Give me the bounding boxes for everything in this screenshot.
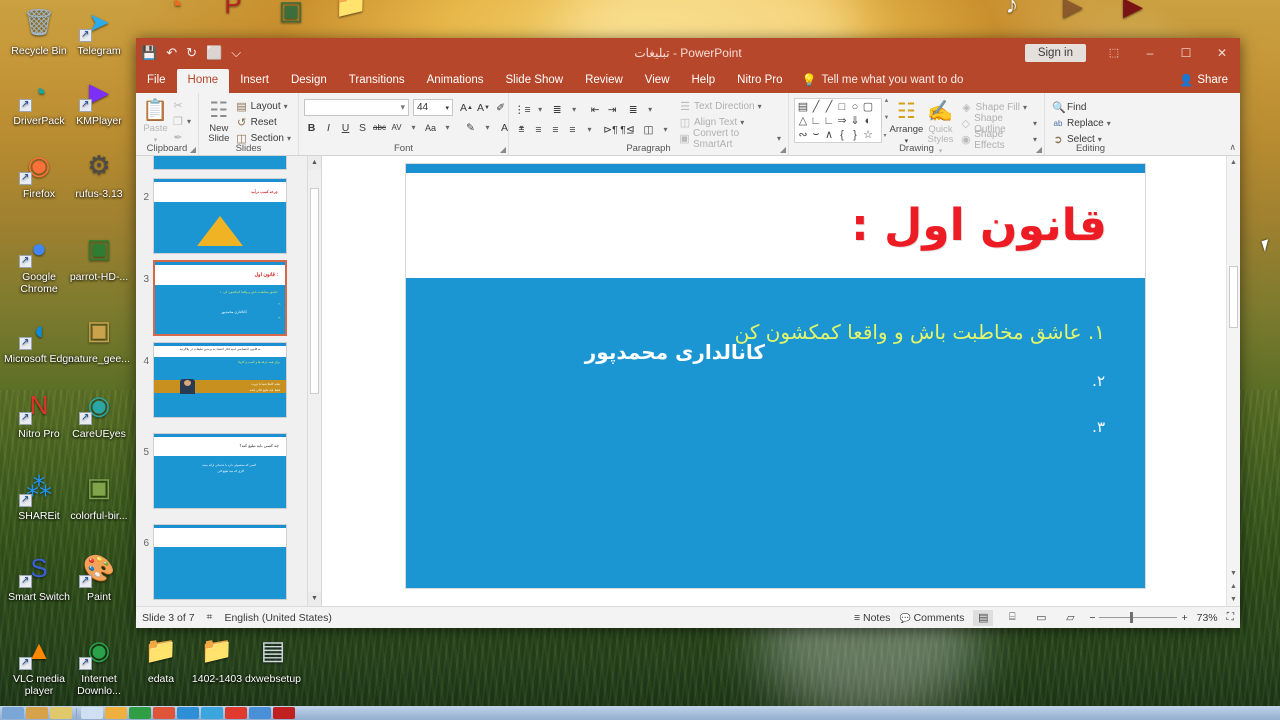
desktop-icon-video-thumbnail[interactable]: ▶ [1096, 0, 1170, 30]
text-direction-button[interactable]: ☰Text Direction▾ [679, 99, 781, 114]
rect-shape-icon: □ [836, 101, 848, 113]
shape-outline-icon: ◇ [960, 117, 971, 130]
language-indicator[interactable]: English (United States) [224, 612, 331, 624]
shortcut-overlay-icon [79, 412, 92, 425]
share-button[interactable]: 👤Share [1167, 69, 1240, 93]
line-spacing-dropdown-icon[interactable]: ▾ [643, 102, 658, 117]
cut-icon: ✂ [172, 99, 184, 112]
video-thumbnail-icon: ▶ [1113, 0, 1153, 26]
increase-indent-button[interactable]: ⇥ [605, 102, 620, 117]
thumb-title: به قانون اختصاصی امید فکر اعتماد به برند… [158, 347, 282, 351]
brace-left-shape-icon: { [836, 129, 848, 141]
scroll-up-arrow-icon[interactable]: ▲ [1227, 156, 1240, 169]
slide-title-text: قانون اول : [851, 200, 1107, 251]
text-highlight-dropdown-icon[interactable]: ▾ [480, 120, 495, 135]
paint-icon: 🎨 [79, 548, 119, 588]
find-icon: 🔍 [1052, 101, 1064, 114]
taskbar-item-6[interactable] [129, 707, 151, 719]
list-item[interactable]: 6 [136, 524, 287, 600]
taskbar-separator [76, 708, 77, 719]
shortcut-overlay-icon [79, 29, 92, 42]
fit-slide-to-window-button[interactable]: ⛶ [1227, 611, 1234, 624]
kmplayer-icon: ▶ [79, 72, 119, 112]
zoom-out-button[interactable]: − [1089, 612, 1095, 624]
arrow-shape-icon: ╱ [823, 100, 835, 113]
shortcut-overlay-icon [19, 412, 32, 425]
bold-button[interactable]: B [304, 120, 319, 135]
tab-design[interactable]: Design [280, 69, 338, 93]
potplayer-icon: P [213, 0, 253, 24]
current-slide[interactable]: قانون اول : ۱. عاشق مخاطبت باش و واقعا ک… [406, 164, 1145, 588]
right-arrow-shape-icon: ⇒ [836, 114, 848, 127]
align-left-button[interactable]: ≡ [514, 122, 529, 137]
shortcut-overlay-icon [79, 575, 92, 588]
sign-in-button[interactable]: Sign in [1025, 44, 1086, 62]
text-highlight-button[interactable]: ✎ [463, 120, 478, 135]
layout-button[interactable]: ▤Layout▾ [236, 99, 291, 114]
slide-indicator[interactable]: Slide 3 of 7 [142, 612, 195, 624]
slide-scrollbar[interactable]: ▲ ▼ ▲ ▼ [1226, 156, 1240, 606]
zoom-knob[interactable] [1130, 612, 1133, 623]
align-center-button[interactable]: ≡ [531, 122, 546, 137]
scroll-up-arrow-icon[interactable]: ▲ [308, 156, 321, 170]
scrollbar-thumb[interactable] [1229, 266, 1238, 328]
thumbnail-scrollbar[interactable]: ▲ ▼ [307, 156, 321, 606]
edge-icon: ◖ [19, 310, 59, 350]
desktop-icon-label: parrot-HD-... [62, 272, 136, 284]
tab-nitro-pro[interactable]: Nitro Pro [726, 69, 793, 93]
mouse-cursor [1261, 239, 1271, 252]
numbering-button[interactable]: ≣ [550, 102, 565, 117]
taskbar-item-1[interactable] [2, 707, 24, 719]
tab-view[interactable]: View [634, 69, 681, 93]
slide-editing-pane[interactable]: قانون اول : ۱. عاشق مخاطبت باش و واقعا ک… [322, 156, 1240, 606]
view-slideshow-button[interactable]: ▱ [1060, 610, 1080, 626]
shortcut-overlay-icon [19, 575, 32, 588]
notes-icon: ≡ [854, 612, 860, 624]
list-item[interactable]: 4 به قانون اختصاصی امید فکر اعتماد به بر… [136, 342, 287, 418]
taskbar-item-3[interactable] [50, 707, 72, 719]
text-shadow-button[interactable]: S [355, 120, 370, 135]
zoom-in-button[interactable]: + [1181, 612, 1187, 624]
redo-icon[interactable]: ↻ [186, 45, 197, 61]
tab-insert[interactable]: Insert [229, 69, 280, 93]
shortcut-overlay-icon [19, 99, 32, 112]
maximize-button[interactable]: ☐ [1168, 38, 1204, 68]
group-label-clipboard: Clipboard [136, 143, 198, 154]
reset-icon: ↺ [236, 116, 248, 129]
font-name-input[interactable]: ▾ [304, 99, 409, 116]
shortcut-overlay-icon [79, 99, 92, 112]
undo-icon[interactable]: ↶ [166, 45, 177, 61]
desktop-icon-label: Telegram [62, 46, 136, 58]
share-label: Share [1197, 74, 1228, 86]
line-spacing-button[interactable]: ≣ [626, 102, 641, 117]
font-name-dropdown-icon[interactable]: ▾ [400, 102, 405, 113]
elbow-shape-icon: ∟ [810, 115, 822, 127]
font-dialog-launcher[interactable]: ◢ [500, 145, 506, 154]
idm-icon: ◉ [79, 630, 119, 670]
character-spacing-dropdown-icon[interactable]: ▾ [406, 120, 421, 135]
vlc-icon: ▲ [19, 630, 59, 670]
taskbar-item-7[interactable] [153, 707, 175, 719]
zoom-track[interactable] [1099, 617, 1177, 618]
customize-qat-icon[interactable]: ⌵ [231, 45, 241, 61]
freeform-shape-icon: ∾ [797, 128, 809, 141]
slide-number: 3 [136, 260, 153, 285]
slide-number: 2 [136, 178, 153, 203]
slide-thumbnail[interactable]: چه کسی باید تبلیغ کنه؟ کسی که محصولی دار… [153, 433, 287, 509]
slide-number: 6 [136, 524, 153, 549]
title-bar: 💾↶↻⬜⌵ تبلیغات - PowerPoint Sign in ⬚ – ☐… [136, 38, 1240, 68]
strikethrough-button[interactable]: abc [372, 120, 387, 135]
desktop-icon-label: CareUEyes [62, 429, 136, 441]
telegram-icon: ➤ [79, 2, 119, 42]
slide-title-placeholder[interactable]: قانون اول : [406, 173, 1145, 278]
tab-home[interactable]: Home [177, 69, 230, 93]
desktop-icon-rufus[interactable]: ⚙rufus-3.13 [62, 145, 136, 201]
list-item[interactable]: 3 قانون اول : ۱. عاشق مخاطبت باش و واقعا… [136, 260, 287, 336]
new-slide-icon: ☷ [209, 100, 228, 122]
view-slide-sorter-button[interactable]: ⌸ [1002, 610, 1022, 626]
collapse-ribbon-button[interactable]: ∧ [1229, 142, 1236, 153]
colorful-bird-image-icon: ▣ [79, 467, 119, 507]
font-size-dropdown-icon[interactable]: ▾ [445, 104, 449, 112]
slide-bullet-1: ۱. عاشق مخاطبت باش و واقعا کمکشون کن [446, 320, 1105, 344]
taskbar-item-12[interactable] [273, 707, 295, 719]
desktop-icon-label: Paint [62, 592, 136, 604]
clear-formatting-button[interactable]: ✐ [493, 100, 508, 115]
desktop-icon-label: colorful-bir... [62, 511, 136, 523]
replace-icon: ab [1052, 119, 1064, 128]
desktop-icon-dxwebsetup[interactable]: ▤dxwebsetup [236, 630, 310, 686]
tab-animations[interactable]: Animations [416, 69, 495, 93]
desktop-icon-label: dxwebsetup [236, 674, 310, 686]
scrollbar-thumb[interactable] [310, 188, 319, 394]
text-direction-icon: ☰ [679, 100, 691, 113]
tab-transitions[interactable]: Transitions [338, 69, 416, 93]
share-person-icon: 👤 [1179, 73, 1193, 87]
desktop-icon-colorful-bird-image[interactable]: ▣colorful-bir... [62, 467, 136, 523]
find-button[interactable]: 🔍Find [1052, 100, 1111, 115]
slide-body-placeholder[interactable]: ۱. عاشق مخاطبت باش و واقعا کمکشون کن ۲. … [406, 278, 1145, 588]
decrease-indent-button[interactable]: ⇤ [588, 102, 603, 117]
textbox-shape-icon: ▤ [797, 100, 809, 113]
mp3-file-icon: ♪ [992, 0, 1032, 24]
arrange-button[interactable]: ☷ Arrange ▾ [889, 98, 923, 147]
columns-button[interactable]: ◫ [641, 122, 656, 137]
slide-bullet-3: ۳. [446, 418, 1105, 436]
shareit-icon: ⁂ [19, 467, 59, 507]
pie-shape-icon: ◐ [862, 115, 874, 127]
folder-icon: 📁 [197, 630, 237, 670]
numbering-dropdown-icon[interactable]: ▾ [567, 102, 582, 117]
paragraph-dialog-launcher[interactable]: ◢ [780, 145, 786, 154]
slide-number: 4 [136, 342, 153, 367]
arrange-icon: ☷ [897, 101, 916, 123]
start-slideshow-icon[interactable]: ⬜ [206, 45, 222, 61]
list-item[interactable]: 5 چه کسی باید تبلیغ کنه؟ کسی که محصولی د… [136, 433, 287, 509]
thumb-title: چرخه کسب درآمد [251, 190, 278, 194]
brace-right-shape-icon: } [849, 129, 861, 141]
thumb-line-1: ۱. عاشق مخاطبت باش و واقعا کمکشون کن [220, 290, 278, 294]
bullets-dropdown-icon[interactable]: ▾ [533, 102, 548, 117]
ribbon-group-clipboard: 📋 Paste ▾ ✂ ❐▾ ✒ Clipboard ◢ [136, 93, 198, 155]
powerpoint-window: 💾↶↻⬜⌵ تبلیغات - PowerPoint Sign in ⬚ – ☐… [136, 38, 1240, 628]
dxwebsetup-icon: ▤ [253, 630, 293, 670]
justify-dropdown-icon[interactable]: ▾ [582, 122, 597, 137]
desktop-icon-telegram[interactable]: ➤Telegram [62, 2, 136, 58]
desktop-icon-folder[interactable]: 📁 [314, 0, 388, 28]
shapes-gallery-scroll[interactable]: ▲▼▾ [882, 98, 889, 139]
parrot-image-icon: ▣ [79, 228, 119, 268]
copy-dropdown-icon[interactable]: ▾ [187, 117, 191, 126]
clipboard-dialog-launcher[interactable]: ◢ [190, 145, 196, 154]
ltr-text-direction-button[interactable]: ⊳¶ [603, 122, 618, 137]
oval-shape-icon: ○ [849, 101, 861, 113]
status-bar: Slide 3 of 7 ⌗ English (United States) ≡… [136, 606, 1240, 628]
ribbon-group-font: ▾ 44▾ A▲ A▼ ✐ B I U S abc AV ▾ Aa ▾ ✎ [298, 93, 508, 155]
slide-watermark-text: کانالداری محمدپور [585, 340, 765, 364]
careueyes-icon: ◉ [79, 385, 119, 425]
bullets-button[interactable]: ⋮≡ [514, 102, 531, 117]
folder-icon: 📁 [141, 630, 181, 670]
scroll-down-arrow-icon[interactable]: ▼ [308, 592, 321, 606]
desktop-icon-nature-image[interactable]: ▣nature_gee... [62, 310, 136, 366]
opera-icon: ◔ [155, 0, 195, 24]
desktop-icon-paint[interactable]: 🎨Paint [62, 548, 136, 604]
taskbar-item-5[interactable] [105, 707, 127, 719]
tab-slide-show[interactable]: Slide Show [495, 69, 575, 93]
folder-icon: 📁 [331, 0, 371, 24]
firefox-icon: ◉ [19, 145, 59, 185]
desktop-icon-careueyes[interactable]: ◉CareUEyes [62, 385, 136, 441]
paste-icon: 📋 [142, 100, 168, 122]
quick-styles-icon: ✍ [927, 101, 953, 123]
driverpack-icon: ◔ [19, 72, 59, 112]
down-arrow-shape-icon: ⇓ [849, 114, 861, 127]
drawing-dialog-launcher[interactable]: ◢ [1036, 145, 1042, 154]
view-reading-button[interactable]: ▭ [1031, 610, 1051, 626]
taskbar-item-9[interactable] [201, 707, 223, 719]
group-label-editing: Editing [1045, 143, 1136, 154]
triangle-diagram-icon [197, 216, 243, 246]
shortcut-overlay-icon [19, 337, 32, 350]
screenshot-image-icon: ▣ [271, 0, 311, 30]
align-text-icon: ◫ [679, 116, 691, 129]
desktop-icon-label: nature_gee... [62, 354, 136, 366]
grow-font-button[interactable]: A▲ [459, 100, 474, 115]
ribbon-group-paragraph: ⋮≡ ▾ ≣ ▾ ⇤ ⇥ ≣ ▾ ≡ ≡ ≡ ≡ ▾ [508, 93, 788, 155]
justify-button[interactable]: ≡ [565, 122, 580, 137]
next-slide-button[interactable]: ▼ [1227, 593, 1240, 606]
previous-slide-button[interactable]: ▲ [1227, 580, 1240, 593]
nitro-pro-icon: N [19, 385, 59, 425]
comments-button[interactable]: 💬 Comments [899, 612, 964, 624]
taskbar-item-4[interactable] [81, 707, 103, 719]
rtl-text-direction-button[interactable]: ¶⊴ [620, 122, 635, 137]
slide-thumbnail[interactable]: چرخه کسب درآمد [153, 178, 287, 254]
desktop-icon-label: rufus-3.13 [62, 189, 136, 201]
taskbar-item-11[interactable] [249, 707, 271, 719]
chrome-icon: ● [19, 228, 59, 268]
recycle-bin-icon: 🗑 [19, 2, 59, 42]
copy-button[interactable]: ❐▾ [172, 114, 191, 129]
tell-me-label: Tell me what you want to do [821, 74, 963, 86]
rufus-icon: ⚙ [79, 145, 119, 185]
smart-switch-icon: S [19, 548, 59, 588]
slide-thumbnail-pane[interactable]: 2 چرخه کسب درآمد 3 قانون اول : ۱. عاشق م… [136, 156, 322, 606]
editor-work-area: 2 چرخه کسب درآمد 3 قانون اول : ۱. عاشق م… [136, 156, 1240, 606]
zoom-slider[interactable]: − + [1089, 612, 1187, 624]
ribbon-display-options-icon[interactable]: ⬚ [1096, 38, 1132, 68]
desktop-icon-label: KMPlayer [62, 116, 136, 128]
desktop-icon-parrot-image[interactable]: ▣parrot-HD-... [62, 228, 136, 284]
accessibility-icon[interactable]: ⌗ [207, 611, 213, 624]
shortcut-overlay-icon [19, 172, 32, 185]
tab-help[interactable]: Help [681, 69, 727, 93]
triangle-shape-icon: △ [797, 114, 809, 127]
change-case-dropdown-icon[interactable]: ▾ [440, 120, 455, 135]
line-shape-icon: ╱ [810, 100, 822, 113]
ribbon-group-slides: ☷ New Slide ▤Layout▾ ↺Reset ◫Section▾ Sl… [198, 93, 298, 155]
tab-review[interactable]: Review [574, 69, 634, 93]
copy-icon: ❐ [172, 115, 184, 128]
slide-bullet-2: ۲. [446, 372, 1105, 390]
lightbulb-icon: 💡 [802, 73, 817, 87]
taskbar-item-10[interactable] [225, 707, 247, 719]
slide-thumbnail[interactable]: به قانون اختصاصی امید فکر اعتماد به برند… [153, 342, 287, 418]
ribbon-tabs[interactable]: FileHomeInsertDesignTransitionsAnimation… [136, 68, 1240, 93]
view-normal-button[interactable]: ▤ [973, 610, 993, 626]
slide-thumbnail[interactable] [153, 524, 287, 600]
slide-thumbnail[interactable] [153, 156, 287, 170]
quick-access-toolbar[interactable]: 💾↶↻⬜⌵ [136, 45, 241, 61]
thumb-person-photo [180, 379, 195, 394]
ribbon-group-editing: 🔍Find abReplace▾ ➲Select▾ Editing [1044, 93, 1136, 155]
align-right-button[interactable]: ≡ [548, 122, 563, 137]
shrink-font-button[interactable]: A▼ [476, 100, 491, 115]
slide-thumbnail[interactable]: قانون اول : ۱. عاشق مخاطبت باش و واقعا ک… [153, 260, 287, 336]
elbow2-shape-icon: ∟ [823, 115, 835, 127]
shape-fill-icon: ◈ [960, 101, 972, 114]
star-shape-icon: ☆ [862, 128, 874, 141]
slide-number: 5 [136, 433, 153, 458]
group-label-slides: Slides [199, 143, 298, 154]
reset-button[interactable]: ↺Reset [236, 115, 291, 130]
tell-me-search[interactable]: 💡Tell me what you want to do [794, 69, 972, 93]
new-slide-button[interactable]: ☷ New Slide [204, 97, 234, 144]
shapes-gallery[interactable]: ▤╱╱□○▢ △∟∟⇒⇓◐ ∾⌣∧{}☆ [794, 98, 882, 143]
save-icon[interactable]: 💾 [141, 45, 157, 61]
list-item[interactable]: 2 چرخه کسب درآمد [136, 178, 287, 254]
tab-file[interactable]: File [136, 69, 177, 93]
zoom-level-label[interactable]: 73% [1197, 612, 1218, 624]
shortcut-overlay-icon [19, 494, 32, 507]
replace-button[interactable]: abReplace▾ [1052, 116, 1111, 131]
desktop-icon-kmplayer[interactable]: ▶KMPlayer [62, 72, 136, 128]
group-label-font: Font [299, 143, 508, 154]
ribbon: 📋 Paste ▾ ✂ ❐▾ ✒ Clipboard ◢ ☷ New Slide [136, 93, 1240, 156]
arc-shape-icon: ∧ [823, 128, 835, 141]
rounded-rect-shape-icon: ▢ [862, 100, 874, 113]
video-thumbnail-icon: ▶ [1053, 0, 1093, 26]
curve-shape-icon: ⌣ [810, 128, 822, 141]
underline-button[interactable]: U [338, 120, 353, 135]
taskbar-item-8[interactable] [177, 707, 199, 719]
thumb-title: چه کسی باید تبلیغ کنه؟ [239, 443, 279, 448]
comments-icon: 💬 [899, 613, 910, 623]
cut-button[interactable]: ✂ [172, 98, 191, 113]
list-item[interactable] [136, 156, 287, 170]
thumb-line-2: کانالداری محمدپور [221, 310, 247, 314]
nature-image-icon: ▣ [79, 310, 119, 350]
layout-icon: ▤ [236, 100, 248, 113]
italic-button[interactable]: I [321, 120, 336, 135]
taskbar-item-2[interactable] [26, 707, 48, 719]
minimize-button[interactable]: – [1132, 38, 1168, 68]
paste-button[interactable]: 📋 Paste ▾ [141, 97, 170, 146]
notes-button[interactable]: ≡ Notes [854, 612, 891, 624]
ribbon-group-drawing: ▤╱╱□○▢ △∟∟⇒⇓◐ ∾⌣∧{}☆ ▲▼▾ ☷ Arrange ▾ ✍ Q… [788, 93, 1044, 155]
shortcut-overlay-icon [79, 657, 92, 670]
group-label-paragraph: Paragraph [509, 143, 788, 154]
font-size-input[interactable]: 44▾ [413, 99, 453, 116]
thumb-title: قانون اول : [255, 272, 278, 278]
columns-dropdown-icon[interactable]: ▾ [658, 122, 673, 137]
scroll-down-arrow-icon[interactable]: ▼ [1227, 567, 1240, 580]
close-button[interactable]: ✕ [1204, 38, 1240, 68]
character-spacing-button[interactable]: AV [389, 120, 404, 135]
taskbar[interactable] [0, 706, 1280, 720]
shortcut-overlay-icon [19, 657, 32, 670]
slide-accent-bar [406, 164, 1145, 173]
shortcut-overlay-icon [19, 255, 32, 268]
group-label-drawing: Drawing [789, 143, 1044, 154]
change-case-button[interactable]: Aa [423, 120, 438, 135]
